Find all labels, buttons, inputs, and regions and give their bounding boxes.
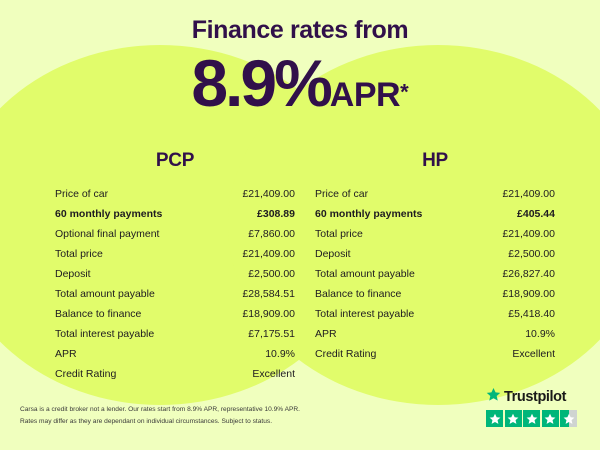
trustpilot-wordmark: Trustpilot (486, 387, 582, 407)
row-value: £28,584.51 (242, 284, 295, 304)
trustpilot-star-icon (505, 410, 522, 427)
trustpilot-stars (486, 410, 582, 427)
row-value: £7,175.51 (248, 324, 295, 344)
row-value: £7,860.00 (248, 224, 295, 244)
row-label: Price of car (55, 184, 108, 204)
table-row: APR10.9% (315, 324, 555, 344)
table-row: Deposit£2,500.00 (55, 264, 295, 284)
row-label: Price of car (315, 184, 368, 204)
row-label: Total interest payable (55, 324, 154, 344)
page-title: Finance rates from (0, 18, 600, 43)
row-value: £5,418.40 (508, 304, 555, 324)
finance-table-hp: Price of car£21,409.0060 monthly payment… (315, 184, 555, 364)
row-label: Deposit (315, 244, 351, 264)
table-row: 60 monthly payments£405.44 (315, 204, 555, 224)
rate-value: 8.9% (191, 46, 329, 120)
disclaimer-line-1: Carsa is a credit broker not a lender. O… (20, 404, 350, 416)
trustpilot-rating[interactable]: Trustpilot (486, 387, 582, 427)
table-row: Deposit£2,500.00 (315, 244, 555, 264)
rate-suffix: APR (330, 76, 400, 114)
row-label: Credit Rating (315, 344, 376, 364)
table-row: Total price£21,409.00 (55, 244, 295, 264)
trustpilot-star-icon (523, 410, 540, 427)
table-row: Total interest payable£7,175.51 (55, 324, 295, 344)
table-row: Credit RatingExcellent (55, 364, 295, 384)
trustpilot-name: Trustpilot (504, 390, 566, 405)
row-value: 10.9% (265, 344, 295, 364)
row-label: Total price (55, 244, 103, 264)
row-value: £2,500.00 (248, 264, 295, 284)
trustpilot-star-icon (486, 387, 501, 407)
row-label: Total amount payable (315, 264, 415, 284)
row-label: Total amount payable (55, 284, 155, 304)
table-row: APR10.9% (55, 344, 295, 364)
row-value: Excellent (512, 344, 555, 364)
trustpilot-star-icon (486, 410, 503, 427)
table-row: Total interest payable£5,418.40 (315, 304, 555, 324)
row-value: £18,909.00 (502, 284, 555, 304)
table-row: Credit RatingExcellent (315, 344, 555, 364)
table-row: 60 monthly payments£308.89 (55, 204, 295, 224)
row-value: £2,500.00 (508, 244, 555, 264)
headline-rate: 8.9%APR* (0, 50, 600, 116)
table-row: Balance to finance£18,909.00 (55, 304, 295, 324)
row-label: APR (55, 344, 77, 364)
trustpilot-star-icon (542, 410, 559, 427)
disclaimer-line-2: Rates may differ as they are dependant o… (20, 416, 350, 428)
row-value: £18,909.00 (242, 304, 295, 324)
row-label: Deposit (55, 264, 91, 284)
table-row: Total amount payable£26,827.40 (315, 264, 555, 284)
row-value: £21,409.00 (502, 224, 555, 244)
row-label: 60 monthly payments (55, 204, 162, 224)
row-value: 10.9% (525, 324, 555, 344)
row-value: £405.44 (517, 204, 555, 224)
row-label: APR (315, 324, 337, 344)
row-label: Optional final payment (55, 224, 159, 244)
finance-table-pcp: Price of car£21,409.0060 monthly payment… (55, 184, 295, 384)
panel-title-hp: HP (315, 150, 555, 172)
row-value: Excellent (252, 364, 295, 384)
table-row: Total price£21,409.00 (315, 224, 555, 244)
row-label: Balance to finance (55, 304, 141, 324)
table-row: Price of car£21,409.00 (315, 184, 555, 204)
rate-asterisk: * (400, 80, 409, 105)
row-value: £26,827.40 (502, 264, 555, 284)
row-value: £308.89 (257, 204, 295, 224)
table-row: Balance to finance£18,909.00 (315, 284, 555, 304)
disclaimer-text: Carsa is a credit broker not a lender. O… (20, 404, 350, 427)
finance-panel-hp: HP Price of car£21,409.0060 monthly paym… (315, 150, 555, 364)
row-value: £21,409.00 (242, 244, 295, 264)
table-row: Total amount payable£28,584.51 (55, 284, 295, 304)
row-label: 60 monthly payments (315, 204, 422, 224)
row-value: £21,409.00 (502, 184, 555, 204)
trustpilot-star-icon (560, 410, 577, 427)
row-label: Total price (315, 224, 363, 244)
finance-rates-banner: Finance rates from 8.9%APR* PCP Price of… (0, 0, 600, 450)
finance-panel-pcp: PCP Price of car£21,409.0060 monthly pay… (55, 150, 295, 384)
row-value: £21,409.00 (242, 184, 295, 204)
table-row: Price of car£21,409.00 (55, 184, 295, 204)
table-row: Optional final payment£7,860.00 (55, 224, 295, 244)
row-label: Credit Rating (55, 364, 116, 384)
panel-title-pcp: PCP (55, 150, 295, 172)
row-label: Balance to finance (315, 284, 401, 304)
row-label: Total interest payable (315, 304, 414, 324)
